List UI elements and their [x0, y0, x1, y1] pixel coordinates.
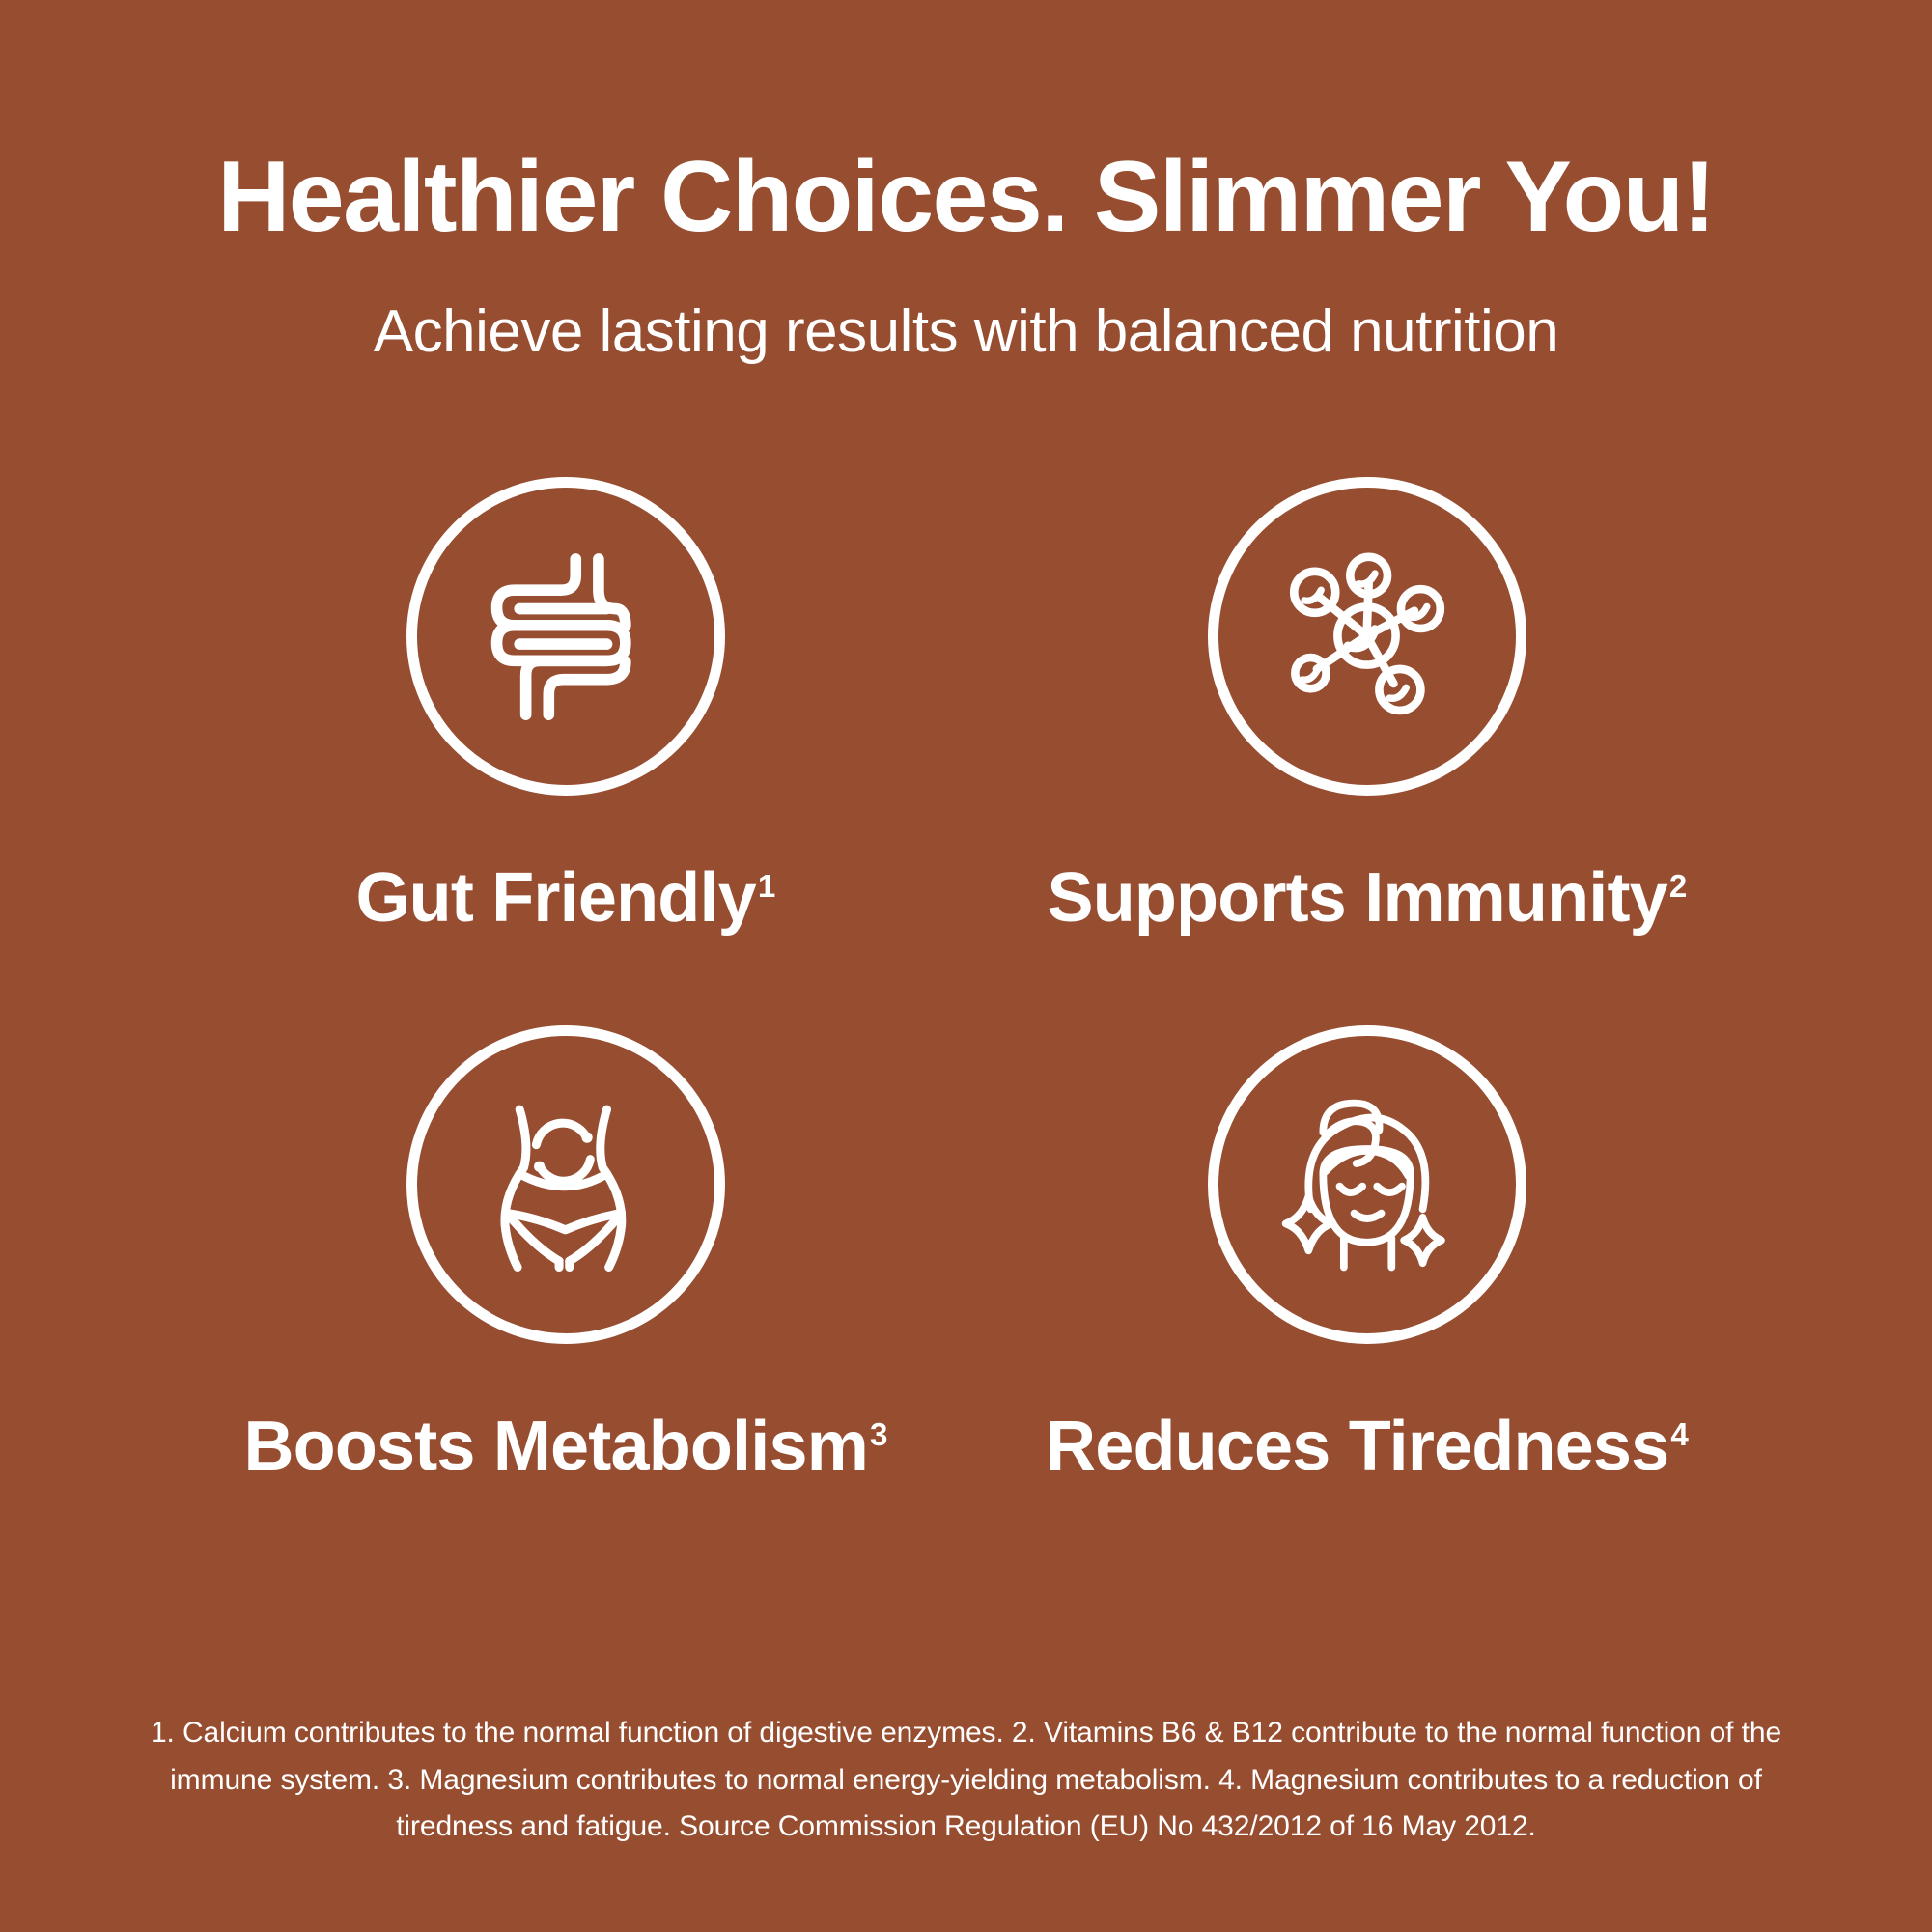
feature-label: Supports Immunity2 [1047, 863, 1686, 933]
footnotes: 1. Calcium contributes to the normal fun… [117, 1710, 1816, 1851]
feature-label: Boosts Metabolism3 [243, 1412, 886, 1481]
molecule-cells-icon [1263, 532, 1470, 740]
rested-face-sparkle-icon [1263, 1080, 1470, 1288]
page-title: Healthier Choices. Slimmer You! [0, 145, 1932, 250]
slim-body-refresh-icon [462, 1080, 669, 1288]
page-subtitle: Achieve lasting results with balanced nu… [0, 296, 1932, 368]
intestine-icon [462, 532, 669, 740]
icon-badge [406, 477, 725, 796]
feature-item-boosts-metabolism: Boosts Metabolism3 [165, 1025, 966, 1481]
promo-poster: Healthier Choices. Slimmer You! Achieve … [0, 0, 1932, 1932]
feature-grid: Gut Friendly1 [165, 477, 1768, 1481]
footnote-marker: 4 [1670, 1417, 1688, 1453]
feature-item-reduces-tiredness: Reduces Tiredness4 [966, 1025, 1768, 1481]
footnote-marker: 1 [758, 869, 775, 905]
header: Healthier Choices. Slimmer You! Achieve … [0, 0, 1932, 369]
icon-badge [406, 1025, 725, 1344]
feature-item-supports-immunity: Supports Immunity2 [966, 477, 1768, 933]
footnote-marker: 2 [1669, 869, 1687, 905]
feature-label: Reduces Tiredness4 [1046, 1412, 1688, 1481]
feature-item-gut-friendly: Gut Friendly1 [165, 477, 966, 933]
feature-label: Gut Friendly1 [355, 863, 774, 933]
icon-badge [1208, 477, 1526, 796]
icon-badge [1208, 1025, 1526, 1344]
footnote-marker: 3 [870, 1417, 887, 1453]
